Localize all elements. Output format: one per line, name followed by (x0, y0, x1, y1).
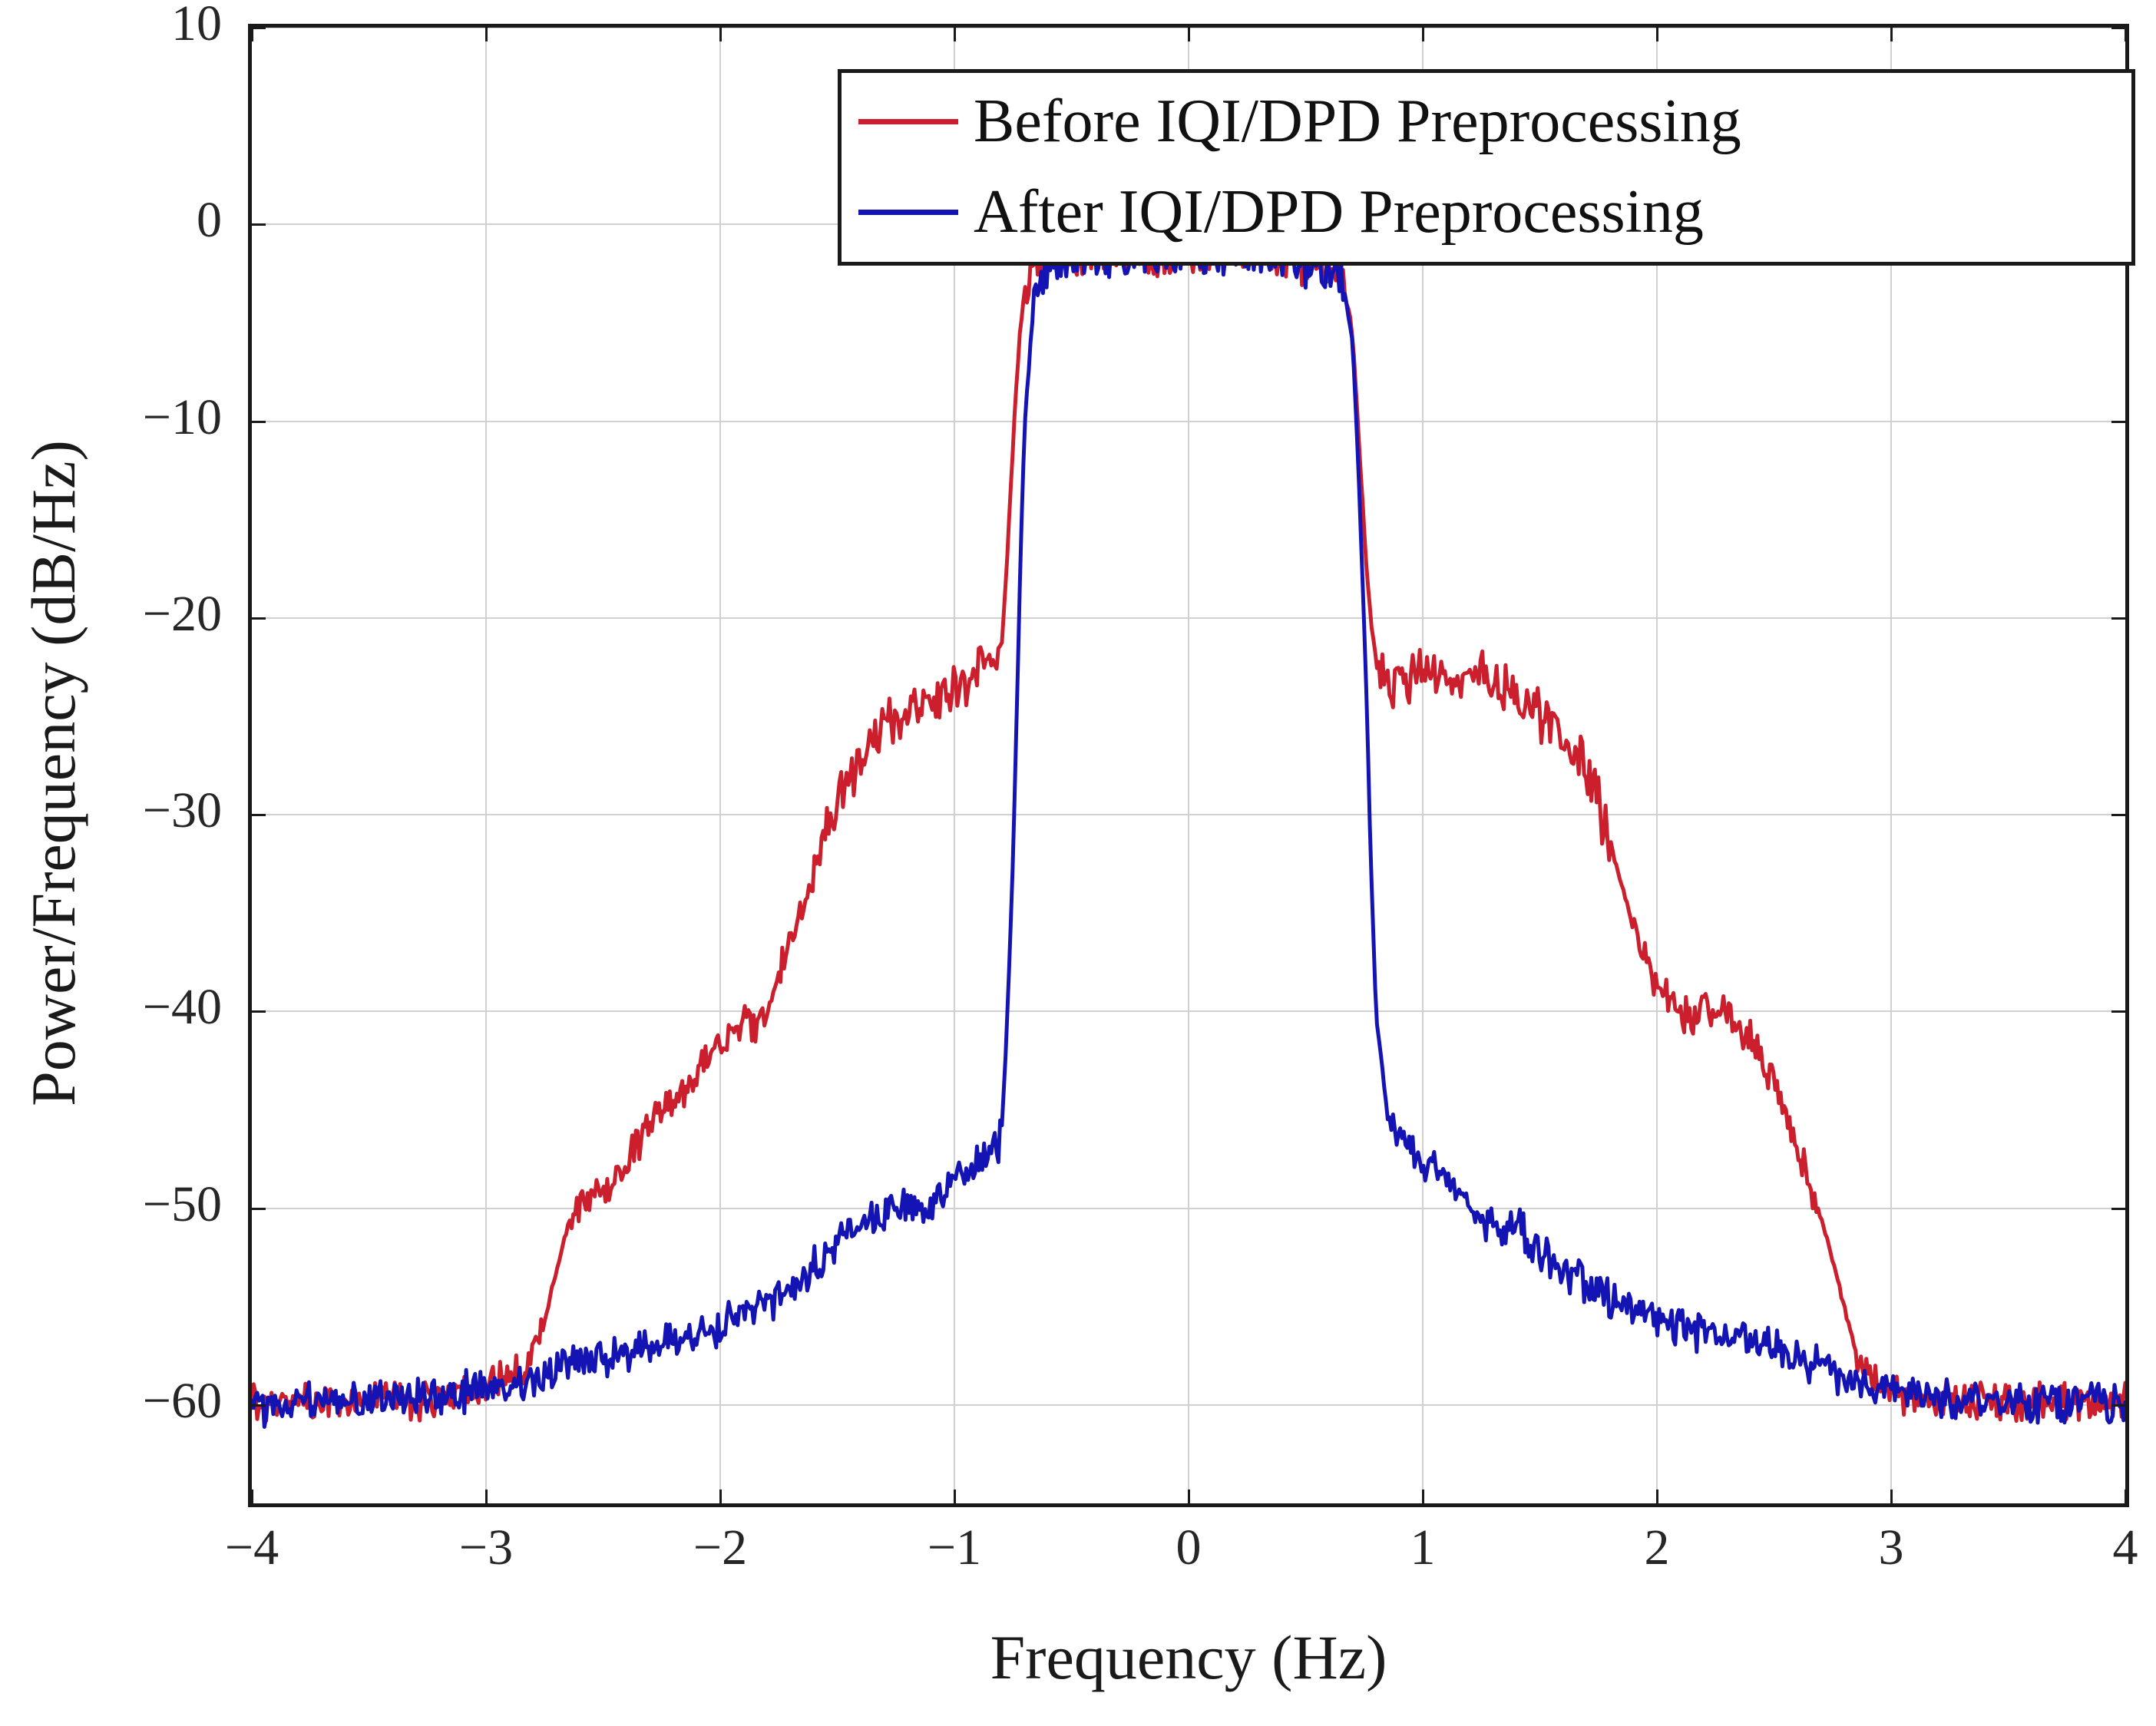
x-tick-mark (719, 28, 722, 41)
y-tick-mark (252, 1010, 266, 1013)
x-tick-label: 1 (1346, 1523, 1500, 1573)
x-tick-mark (2125, 28, 2127, 41)
x-tick-mark (1890, 28, 1893, 41)
y-tick-mark (252, 27, 266, 29)
legend-label-after: After IQI/DPD Preprocessing (974, 181, 1704, 243)
x-tick-mark (251, 28, 253, 41)
figure-root: −4−3−2−101234 100−10−20−30−40−50−60 Freq… (0, 0, 2156, 1726)
legend-entry[interactable]: Before IQI/DPD Preprocessing (842, 79, 2131, 164)
x-tick-mark (485, 28, 488, 41)
y-tick-mark (2111, 27, 2125, 29)
x-tick-label: −2 (643, 1523, 797, 1573)
y-tick-mark (252, 814, 266, 816)
x-tick-mark (1188, 28, 1190, 41)
x-tick-mark (2125, 1490, 2127, 1503)
legend-swatch-after (858, 210, 958, 215)
x-tick-label: −3 (409, 1523, 563, 1573)
x-tick-mark (954, 28, 956, 41)
y-tick-mark (2111, 1208, 2125, 1210)
y-tick-mark (2111, 1010, 2125, 1013)
x-tick-mark (1656, 28, 1658, 41)
y-tick-mark (252, 1404, 266, 1407)
x-tick-mark (1188, 1490, 1190, 1503)
x-tick-mark (1656, 1490, 1658, 1503)
x-tick-mark (954, 1490, 956, 1503)
x-tick-label: −4 (175, 1523, 329, 1573)
legend: Before IQI/DPD Preprocessing After IQI/D… (838, 69, 2135, 266)
y-tick-mark (2111, 421, 2125, 423)
x-tick-label: 3 (1814, 1523, 1968, 1573)
legend-entry[interactable]: After IQI/DPD Preprocessing (842, 170, 2131, 254)
y-tick-mark (252, 421, 266, 423)
x-tick-label: 0 (1112, 1523, 1265, 1573)
y-tick-mark (2111, 814, 2125, 816)
x-tick-mark (1890, 1490, 1893, 1503)
legend-label-before: Before IQI/DPD Preprocessing (974, 91, 1741, 152)
x-tick-mark (1422, 1490, 1424, 1503)
x-axis-title: Frequency (Hz) (248, 1622, 2129, 1694)
y-tick-mark (252, 223, 266, 226)
x-tick-mark (251, 1490, 253, 1503)
x-tick-mark (719, 1490, 722, 1503)
series-line (252, 229, 2125, 1427)
y-tick-mark (2111, 1404, 2125, 1407)
y-axis-title: Power/Frequency (dB/Hz) (18, 82, 90, 1464)
series-line (252, 229, 2125, 1421)
legend-swatch-before (858, 119, 958, 124)
y-tick-mark (252, 1208, 266, 1210)
x-tick-mark (485, 1490, 488, 1503)
x-tick-label: 4 (2049, 1523, 2156, 1573)
y-tick-label: 10 (22, 0, 222, 49)
x-tick-mark (1422, 28, 1424, 41)
x-tick-label: −1 (878, 1523, 1031, 1573)
y-tick-mark (252, 617, 266, 620)
x-tick-label: 2 (1580, 1523, 1734, 1573)
y-tick-mark (2111, 617, 2125, 620)
